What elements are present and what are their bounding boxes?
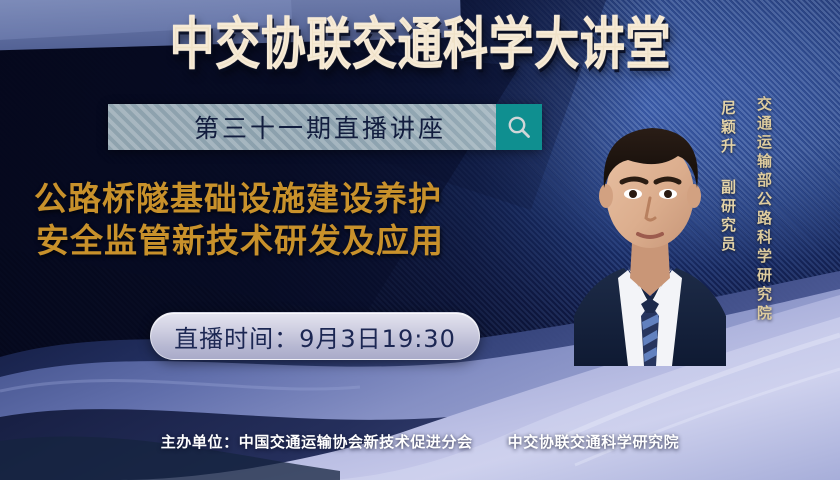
episode-banner[interactable]: 第三十一期直播讲座 (108, 104, 542, 150)
schedule-label: 直播时间：9月3日19:30 (174, 319, 456, 354)
speaker-name: 尼颖升 副研究员 (718, 100, 739, 255)
episode-label: 第三十一期直播讲座 (158, 109, 446, 145)
search-icon (506, 114, 532, 140)
schedule-pill: 直播时间：9月3日19:30 (150, 312, 480, 360)
organizer-label: 主办单位：中国交通运输协会新技术促进分会 (161, 431, 473, 452)
main-title: 中交协联交通科学大讲堂 (163, 16, 676, 72)
footer: 主办单位：中国交通运输协会新技术促进分会 中交协联交通科学研究院 (0, 431, 840, 452)
lecture-subject-line-2: 安全监管新技术研发及应用 (34, 220, 594, 262)
speaker-organization: 交通运输部公路科学研究院 (754, 96, 775, 324)
search-button[interactable] (496, 104, 542, 150)
live-lecture-poster: 尼颖升 副研究员 交通运输部公路科学研究院 中交协联交通科学大讲堂 第三十一期直… (0, 0, 840, 480)
lecture-subject: 公路桥隧基础设施建设养护 安全监管新技术研发及应用 (34, 178, 594, 262)
co-organizer-label: 中交协联交通科学研究院 (508, 431, 680, 452)
lecture-subject-line-1: 公路桥隧基础设施建设养护 (34, 178, 594, 220)
episode-banner-body: 第三十一期直播讲座 (108, 104, 496, 150)
title-container: 中交协联交通科学大讲堂 (0, 16, 840, 62)
